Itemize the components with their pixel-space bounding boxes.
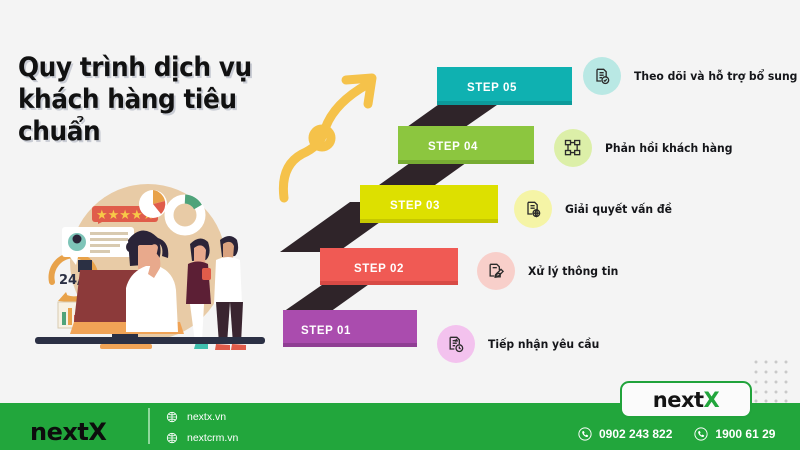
- step-description-row-3[interactable]: Giải quyết vấn đề: [514, 190, 679, 228]
- phone-icon: [578, 427, 592, 441]
- footer-website-label-1: nextx.vn: [187, 411, 226, 423]
- globe-icon: [166, 432, 178, 444]
- document-check-icon: [583, 57, 621, 95]
- illustration-ground-line: [35, 337, 265, 344]
- page-title: Quy trình dịch vụ khách hàng tiêu chuẩn: [18, 52, 303, 148]
- nextx-badge-suffix: X: [704, 388, 720, 412]
- step-description-row-2[interactable]: Xử lý thông tin: [477, 252, 624, 290]
- step-description-3: Giải quyết vấn đề: [565, 202, 672, 216]
- step-description-row-4[interactable]: Phản hồi khách hàng: [554, 129, 741, 167]
- phone-icon: [694, 427, 708, 441]
- footer-phone-item-2[interactable]: 1900 61 29: [694, 427, 775, 441]
- page-title-line1: Quy trình dịch vụ: [18, 52, 252, 83]
- step-bar-4[interactable]: [398, 126, 534, 164]
- page-title-line2: khách hàng tiêu chuẩn: [18, 84, 303, 148]
- step-description-2: Xử lý thông tin: [528, 264, 618, 278]
- footer-website-list: nextx.vn nextcrm.vn: [166, 406, 238, 448]
- document-edit-icon: [477, 252, 515, 290]
- footer-website-label-2: nextcrm.vn: [187, 432, 238, 444]
- nextx-badge-prefix: next: [653, 388, 704, 412]
- feedback-network-icon: [554, 129, 592, 167]
- pie-chart-small: [139, 190, 167, 218]
- request-document-clock-icon: [437, 325, 475, 363]
- footer-logo: nextX: [30, 418, 106, 446]
- footer-phone-number-1: 0902 243 822: [599, 427, 672, 441]
- step-bar-5[interactable]: [437, 67, 572, 105]
- step-description-row-5[interactable]: Theo dõi và hỗ trợ bổ sung: [583, 57, 800, 95]
- footer-phone-list: 0902 243 822 1900 61 29: [578, 427, 775, 441]
- footer-divider: [148, 408, 150, 444]
- document-globe-icon: [514, 190, 552, 228]
- step-description-row-1[interactable]: Tiếp nhận yêu cầu: [437, 325, 606, 363]
- footer-phone-number-2: 1900 61 29: [715, 427, 775, 441]
- footer-website-item-1[interactable]: nextx.vn: [166, 406, 238, 427]
- step-bar-2[interactable]: [320, 248, 458, 285]
- customer-service-illustration: 24/7 ★★★★★: [30, 182, 270, 352]
- step-description-4: Phản hồi khách hàng: [605, 141, 732, 155]
- footer-website-item-2[interactable]: nextcrm.vn: [166, 427, 238, 448]
- globe-icon: [166, 411, 178, 423]
- nextx-logo-badge: nextX: [620, 381, 752, 418]
- dot-grid-pattern: [752, 358, 794, 404]
- step-bar-1[interactable]: [283, 310, 417, 347]
- step-description-5: Theo dõi và hỗ trợ bổ sung: [634, 69, 797, 83]
- step-bar-3[interactable]: [360, 185, 498, 223]
- step-description-1: Tiếp nhận yêu cầu: [488, 337, 599, 351]
- footer-phone-item-1[interactable]: 0902 243 822: [578, 427, 672, 441]
